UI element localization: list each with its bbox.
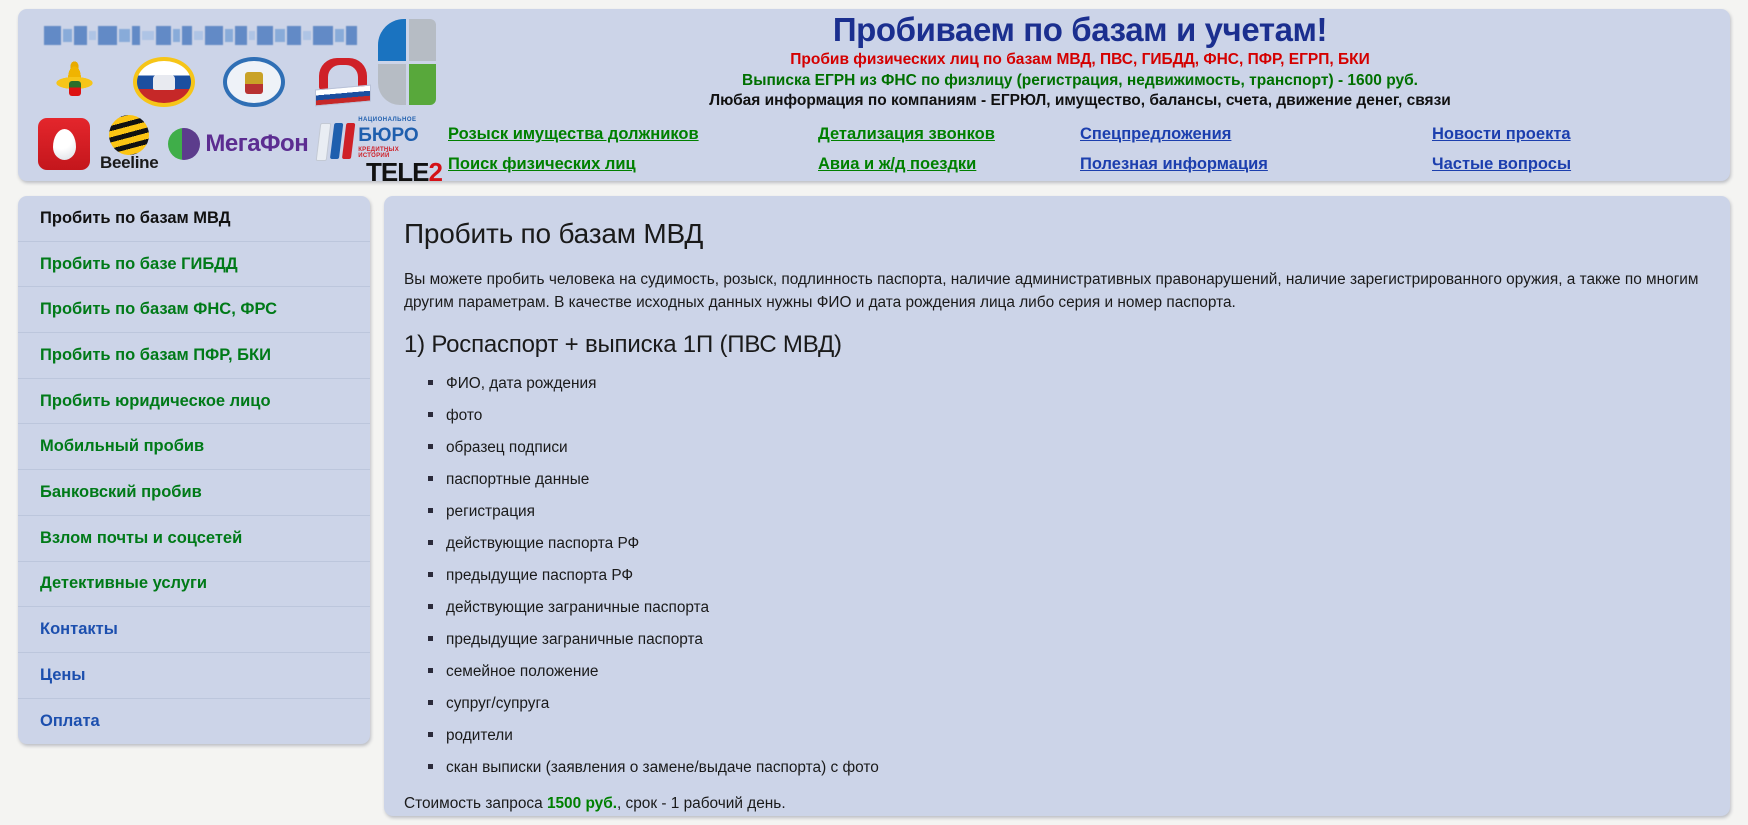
header-tagline-red: Пробив физических лиц по базам МВД, ПВС,… [438, 50, 1722, 71]
sidebar-item-email-social[interactable]: Взлом почты и соцсетей [18, 516, 370, 562]
site-title: Пробиваем по базам и учетам! [438, 13, 1722, 48]
quad-squares-logo-icon [378, 19, 436, 105]
nbki-top-label: НАЦИОНАЛЬНОЕ [358, 117, 416, 123]
nbki-main-label: БЮРО [358, 125, 418, 147]
tele2-logo-icon: TELE2 [366, 157, 442, 188]
sidebar-item-bank[interactable]: Банковский пробив [18, 470, 370, 516]
header-text-block: Пробиваем по базам и учетам! Пробив физи… [438, 9, 1730, 177]
beeline-label: Beeline [100, 153, 158, 173]
list-item: регистрация [428, 497, 1700, 529]
nav-link-asset-search[interactable]: Розыск имущества должников [448, 123, 818, 147]
nav-link-special-offers[interactable]: Спецпредложения [1080, 123, 1432, 147]
list-item: паспортные данные [428, 465, 1700, 497]
sidebar-item-legal-entity[interactable]: Пробить юридическое лицо [18, 379, 370, 425]
sidebar-item-contacts[interactable]: Контакты [18, 607, 370, 653]
nav-link-project-news[interactable]: Новости проекта [1432, 123, 1682, 147]
megafon-logo-icon: МегаФон [168, 128, 308, 160]
list-item: предыдущие паспорта РФ [428, 561, 1700, 593]
nav-link-useful-info[interactable]: Полезная информация [1080, 153, 1432, 177]
sidebar-item-fns-frs[interactable]: Пробить по базам ФНС, ФРС [18, 287, 370, 333]
list-item: ФИО, дата рождения [428, 369, 1700, 401]
tele2-digit: 2 [428, 157, 441, 187]
price-line: Стоимость запроса 1500 руб., срок - 1 ра… [404, 795, 1700, 813]
sidebar-menu: Пробить по базам МВД Пробить по базе ГИБ… [18, 196, 370, 744]
pfr-emblem-icon [313, 57, 374, 107]
feature-list: ФИО, дата рождения фото образец подписи … [402, 369, 1700, 785]
fns-emblem-icon [223, 57, 285, 107]
list-item: скан выписки (заявления о замене/выдаче … [428, 753, 1700, 785]
main-content: Пробить по базам МВД Вы можете пробить ч… [384, 196, 1730, 816]
list-item: действующие заграничные паспорта [428, 593, 1700, 625]
intro-paragraph: Вы можете пробить человека на судимость,… [404, 268, 1700, 315]
sidebar-item-mvd[interactable]: Пробить по базам МВД [18, 196, 370, 242]
nav-link-faq[interactable]: Частые вопросы [1432, 153, 1682, 177]
list-item: супруг/супруга [428, 689, 1700, 721]
page-title: Пробить по базам МВД [404, 218, 1700, 250]
site-wordmark-pixelated [40, 22, 360, 48]
sidebar-item-mobile[interactable]: Мобильный пробив [18, 424, 370, 470]
section-title: 1) Роспаспорт + выписка 1П (ПВС МВД) [404, 331, 1700, 359]
sidebar-item-prices[interactable]: Цены [18, 653, 370, 699]
list-item: семейное положение [428, 657, 1700, 689]
sidebar-item-pfr-bki[interactable]: Пробить по базам ПФР, БКИ [18, 333, 370, 379]
agency-crest-row [44, 55, 374, 109]
nav-link-person-search[interactable]: Поиск физических лиц [448, 153, 818, 177]
sidebar-item-detective[interactable]: Детективные услуги [18, 562, 370, 608]
nav-link-call-detail[interactable]: Детализация звонков [818, 123, 1080, 147]
list-item: предыдущие заграничные паспорта [428, 625, 1700, 657]
logo-block: Beeline МегаФон НАЦИОНАЛЬНОЕ БЮРО КРЕДИТ… [18, 9, 438, 181]
beeline-logo-icon: Beeline [100, 115, 158, 173]
list-item: фото [428, 401, 1700, 433]
mts-logo-icon [38, 118, 90, 170]
gibdd-emblem-icon [133, 57, 195, 107]
header-tagline-green: Выписка ЕГРН из ФНС по физлицу (регистра… [438, 71, 1722, 92]
tele2-text: TELE [366, 157, 428, 187]
megafon-label: МегаФон [205, 130, 308, 158]
price-value: 1500 руб. [547, 795, 617, 812]
sidebar-item-payment[interactable]: Оплата [18, 699, 370, 745]
list-item: родители [428, 721, 1700, 753]
mvd-eagle-icon [44, 57, 105, 107]
site-header: Beeline МегаФон НАЦИОНАЛЬНОЕ БЮРО КРЕДИТ… [18, 9, 1730, 181]
sidebar-item-gibdd[interactable]: Пробить по базе ГИБДД [18, 242, 370, 288]
header-tagline-black: Любая информация по компаниям - ЕГРЮЛ, и… [438, 91, 1722, 112]
list-item: образец подписи [428, 433, 1700, 465]
top-navigation: Розыск имущества должников Детализация з… [438, 123, 1722, 177]
price-prefix: Стоимость запроса [404, 795, 547, 812]
price-suffix: , срок - 1 рабочий день. [617, 795, 786, 812]
page-root: Beeline МегаФон НАЦИОНАЛЬНОЕ БЮРО КРЕДИТ… [0, 0, 1748, 825]
nav-link-travel[interactable]: Авиа и ж/д поездки [818, 153, 1080, 177]
list-item: действующие паспорта РФ [428, 529, 1700, 561]
